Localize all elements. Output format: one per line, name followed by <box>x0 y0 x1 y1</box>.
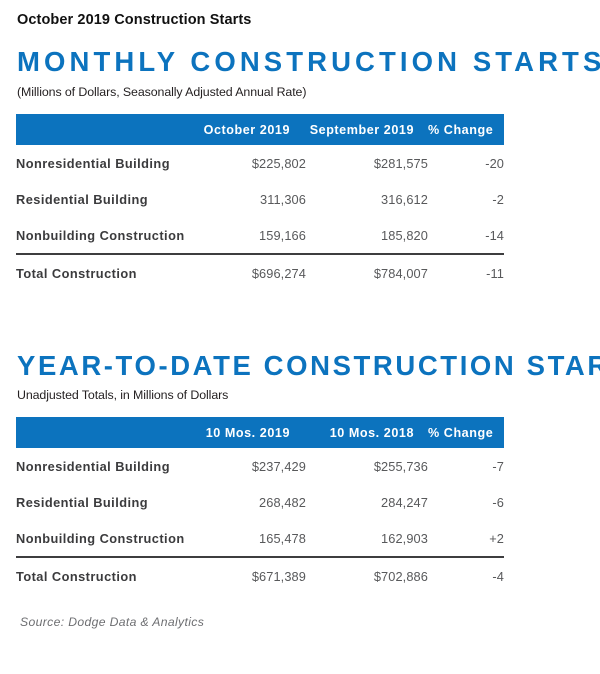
row-total-period-1: $696,274 <box>202 254 306 291</box>
row-label-total: Total Construction <box>16 557 202 594</box>
row-value-period-2: 185,820 <box>306 217 428 254</box>
row-value-period-1: 311,306 <box>202 181 306 217</box>
row-label-total: Total Construction <box>16 254 202 291</box>
row-value-period-2: 162,903 <box>306 520 428 557</box>
row-value-period-1: $225,802 <box>202 145 306 181</box>
column-header-category <box>16 114 202 145</box>
row-value-percent-change: -7 <box>428 448 504 484</box>
row-value-percent-change: -2 <box>428 181 504 217</box>
column-header-period-1: 10 Mos. 2019 <box>202 417 306 448</box>
section-title-ytd: YEAR-TO-DATE CONSTRUCTION STARTS <box>0 352 600 380</box>
column-header-percent-change: % Change <box>428 114 504 145</box>
row-value-percent-change: -14 <box>428 217 504 254</box>
row-label: Residential Building <box>16 181 202 217</box>
table-row: Nonbuilding Construction 159,166 185,820… <box>16 217 504 254</box>
row-value-percent-change: +2 <box>428 520 504 557</box>
row-label: Nonbuilding Construction <box>16 520 202 557</box>
row-value-period-2: $281,575 <box>306 145 428 181</box>
row-total-period-2: $784,007 <box>306 254 428 291</box>
row-value-period-1: $237,429 <box>202 448 306 484</box>
page-title: October 2019 Construction Starts <box>17 12 251 28</box>
column-header-period-2: 10 Mos. 2018 <box>306 417 428 448</box>
table-row: Nonbuilding Construction 165,478 162,903… <box>16 520 504 557</box>
row-value-period-1: 268,482 <box>202 484 306 520</box>
table-year-to-date-construction-starts: 10 Mos. 2019 10 Mos. 2018 % Change Nonre… <box>16 417 504 594</box>
row-total-period-2: $702,886 <box>306 557 428 594</box>
row-value-period-2: 284,247 <box>306 484 428 520</box>
row-label: Nonresidential Building <box>16 145 202 181</box>
row-label: Nonresidential Building <box>16 448 202 484</box>
section-subtitle-ytd: Unadjusted Totals, in Millions of Dollar… <box>0 388 600 402</box>
table-monthly-construction-starts: October 2019 September 2019 % Change Non… <box>16 114 504 291</box>
section-subtitle-monthly: (Millions of Dollars, Seasonally Adjuste… <box>0 85 600 99</box>
row-total-percent-change: -11 <box>428 254 504 291</box>
row-total-percent-change: -4 <box>428 557 504 594</box>
table-row: Residential Building 311,306 316,612 -2 <box>16 181 504 217</box>
column-header-percent-change: % Change <box>428 417 504 448</box>
row-value-percent-change: -20 <box>428 145 504 181</box>
column-header-period-1: October 2019 <box>202 114 306 145</box>
row-value-period-2: 316,612 <box>306 181 428 217</box>
row-total-period-1: $671,389 <box>202 557 306 594</box>
source-attribution: Source: Dodge Data & Analytics <box>20 615 204 629</box>
report-page: October 2019 Construction Starts MONTHLY… <box>0 0 600 674</box>
table-header-row: 10 Mos. 2019 10 Mos. 2018 % Change <box>16 417 504 448</box>
row-value-period-2: $255,736 <box>306 448 428 484</box>
row-label: Residential Building <box>16 484 202 520</box>
section-title-monthly: MONTHLY CONSTRUCTION STARTS <box>0 48 600 76</box>
row-value-percent-change: -6 <box>428 484 504 520</box>
table-row: Nonresidential Building $237,429 $255,73… <box>16 448 504 484</box>
table-row: Residential Building 268,482 284,247 -6 <box>16 484 504 520</box>
row-label: Nonbuilding Construction <box>16 217 202 254</box>
table-header-row: October 2019 September 2019 % Change <box>16 114 504 145</box>
table-row-total: Total Construction $696,274 $784,007 -11 <box>16 254 504 291</box>
row-value-period-1: 159,166 <box>202 217 306 254</box>
table-row: Nonresidential Building $225,802 $281,57… <box>16 145 504 181</box>
column-header-period-2: September 2019 <box>306 114 428 145</box>
table-row-total: Total Construction $671,389 $702,886 -4 <box>16 557 504 594</box>
section-year-to-date-construction-starts: YEAR-TO-DATE CONSTRUCTION STARTS Unadjus… <box>0 352 600 594</box>
column-header-category <box>16 417 202 448</box>
section-monthly-construction-starts: MONTHLY CONSTRUCTION STARTS (Millions of… <box>0 48 600 291</box>
row-value-period-1: 165,478 <box>202 520 306 557</box>
